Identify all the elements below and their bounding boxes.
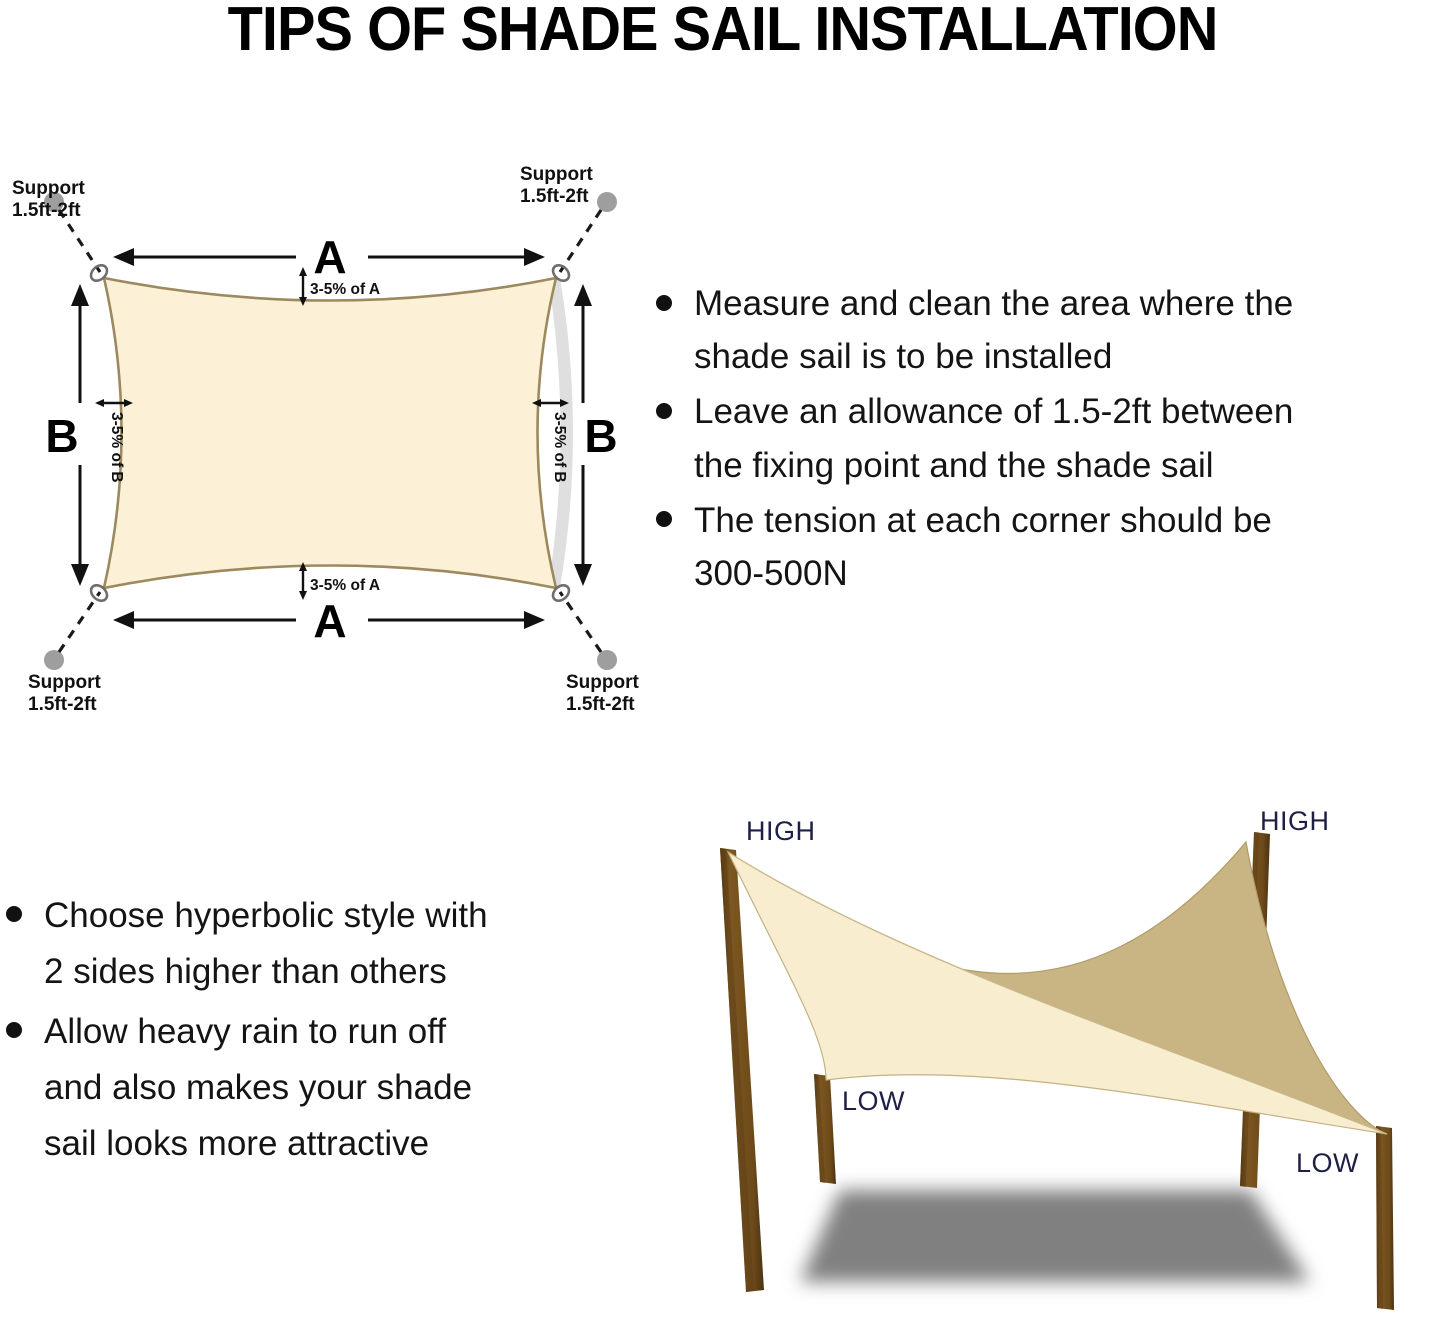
bullet-line: Leave an allowance of 1.5-2ft between (694, 385, 1445, 438)
bullet-dot-icon (656, 295, 672, 311)
arrow-a-top-left (113, 248, 134, 266)
bullet-line: 300-500N (694, 547, 1445, 600)
bullet-line: 2 sides higher than others (44, 944, 620, 1000)
label-high-left: HIGH (746, 816, 816, 846)
support-label-top-left-line2: 1.5ft-2ft (12, 200, 81, 221)
dim-a-top-label: A (313, 231, 346, 283)
arrow-b-right-top (574, 284, 592, 306)
arrow-a-bottom-right (524, 611, 545, 629)
arrow-a-top-right (524, 248, 545, 266)
curve-a-bottom-label: 3-5% of A (310, 577, 380, 594)
bullet-line: sail looks more attractive (44, 1116, 620, 1172)
bullet-line: shade sail is to be installed (694, 330, 1445, 383)
rectangle-sail-diagram: A 3-5% of A A 3-5% of A B (0, 160, 660, 740)
arrow-down-a-bottom (299, 591, 307, 600)
ground-shadow (800, 1190, 1310, 1282)
support-label-bottom-left-line2: 1.5ft-2ft (28, 694, 97, 715)
bullet-dot-icon (6, 1022, 22, 1038)
support-label-bottom-right-line1: Support (566, 672, 639, 693)
support-label-top-right-line1: Support (520, 164, 593, 185)
support-anchor-bottom-right (560, 592, 617, 670)
installation-tips-list-top: Measure and clean the area where the sha… (648, 277, 1445, 602)
arrow-b-left-top (71, 284, 89, 306)
label-low-left: LOW (842, 1086, 905, 1116)
dim-b-left-label: B (45, 410, 78, 462)
support-label-top-right-line2: 1.5ft-2ft (520, 186, 589, 207)
bullet-line: Choose hyperbolic style with (44, 888, 620, 944)
support-anchor-bottom-left (44, 592, 100, 670)
label-low-right: LOW (1296, 1148, 1359, 1178)
bullet-line: Measure and clean the area where the (694, 277, 1445, 330)
support-label-bottom-right-line2: 1.5ft-2ft (566, 694, 635, 715)
curve-b-right-label: 3-5% of B (551, 412, 568, 483)
bullet-line: Allow heavy rain to run off (44, 1004, 620, 1060)
bullet-dot-icon (6, 906, 22, 922)
list-item: Allow heavy rain to run off and also mak… (0, 1004, 620, 1172)
page-title: TIPS OF SHADE SAIL INSTALLATION (51, 0, 1395, 65)
list-item: Measure and clean the area where the sha… (648, 277, 1445, 383)
bullet-line: and also makes your shade (44, 1060, 620, 1116)
dim-b-right-label: B (584, 410, 617, 462)
hyperbolic-sail-diagram: HIGH HIGH LOW LOW (650, 790, 1445, 1319)
post-low-right (1376, 1126, 1394, 1310)
arrow-a-bottom-left (113, 611, 134, 629)
shade-sail-shape (104, 278, 556, 588)
arrow-b-left-bottom (71, 564, 89, 586)
arrow-up-a-top (299, 267, 307, 276)
arrow-left-b-left (95, 399, 104, 407)
dim-a-bottom-label: A (313, 595, 346, 647)
curve-a-top-label: 3-5% of A (310, 281, 380, 298)
list-item: Choose hyperbolic style with 2 sides hig… (0, 888, 620, 1000)
installation-tips-list-bottom: Choose hyperbolic style with 2 sides hig… (0, 888, 620, 1176)
bullet-line: the fixing point and the shade sail (694, 439, 1445, 492)
bullet-dot-icon (656, 511, 672, 527)
list-item: The tension at each corner should be 300… (648, 494, 1445, 600)
support-label-top-left-line1: Support (12, 178, 85, 199)
bullet-dot-icon (656, 403, 672, 419)
arrow-b-right-bottom (574, 564, 592, 586)
label-high-right: HIGH (1260, 806, 1330, 836)
curve-b-left-label: 3-5% of B (108, 412, 125, 483)
bullet-line: The tension at each corner should be (694, 494, 1445, 547)
list-item: Leave an allowance of 1.5-2ft between th… (648, 385, 1445, 491)
post-low-left (814, 1074, 836, 1184)
post-high-left (720, 848, 764, 1292)
support-label-bottom-left-line1: Support (28, 672, 101, 693)
